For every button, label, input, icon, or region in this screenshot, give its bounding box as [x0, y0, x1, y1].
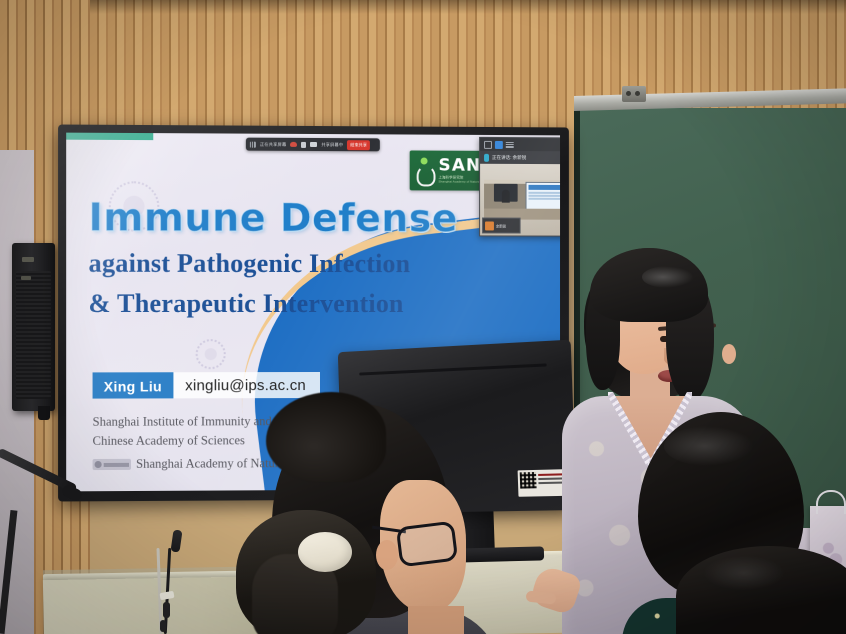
share-screen-label: 共享屏幕中	[321, 142, 343, 148]
slide-title: Immune Defense	[88, 195, 508, 240]
slide-title-block: Immune Defense against Pathogenic Infect…	[88, 195, 508, 320]
signal-icon	[250, 141, 256, 147]
remote-slide-screen	[526, 182, 560, 210]
monitor-vent	[359, 363, 546, 375]
lecture-hall-photo: SANS 上海科学研究院 Shanghai Academy of Natural…	[0, 0, 846, 634]
avatar	[485, 221, 494, 230]
share-status-label: 正在共享屏幕	[260, 141, 286, 147]
speaking-label: 正在讲话: 余新锐	[492, 154, 526, 160]
rail-bracket	[622, 86, 646, 102]
cloud-icon[interactable]	[290, 142, 297, 147]
virus-watermark-icon	[196, 339, 226, 369]
screen-accent-strip	[66, 133, 153, 141]
ceiling-shadow	[0, 0, 846, 14]
presenter-ear	[722, 344, 736, 364]
author-name: Xing Liu	[93, 372, 173, 398]
audience-member-braid	[236, 500, 386, 634]
sans-figure-icon	[415, 157, 434, 183]
presenter-hair-front	[590, 248, 708, 322]
speaker-grille	[16, 271, 51, 399]
eyeglasses-icon	[396, 521, 458, 568]
screen-share-toolbar[interactable]: 正在共享屏幕 共享屏幕中 结束共享	[246, 138, 380, 152]
qr-code-icon	[520, 472, 537, 489]
speaker-badge	[22, 257, 34, 262]
audience-neck	[408, 606, 464, 634]
participant-name: 余新锐	[496, 223, 506, 228]
end-share-button[interactable]: 结束共享	[347, 140, 370, 150]
hair-scrunchie	[298, 532, 352, 572]
slide-subtitle-line-2: & Therapeutic Intervention	[88, 288, 508, 320]
sans-mini-logo-icon	[93, 459, 131, 470]
microphone-icon	[484, 153, 489, 161]
document-icon[interactable]	[301, 141, 306, 147]
remote-classroom-view	[484, 180, 560, 220]
video-call-toolbar[interactable]	[480, 138, 560, 151]
remote-person	[502, 190, 510, 203]
gallery-view-icon[interactable]	[484, 140, 492, 148]
video-call-window[interactable]: 正在讲话: 余新锐 ▲ 余新锐	[479, 137, 560, 237]
audience-hair	[266, 392, 386, 482]
speaker-mount	[38, 406, 50, 420]
gooseneck-microphone	[171, 529, 183, 552]
wall-speaker	[12, 243, 55, 411]
cable-connector	[160, 620, 166, 632]
speaking-indicator-bar: 正在讲话: 余新锐 ▲	[480, 151, 560, 164]
camera-icon[interactable]	[310, 142, 317, 147]
list-view-icon[interactable]	[506, 142, 514, 148]
participant-thumbnail[interactable]: 余新锐	[482, 217, 521, 233]
cable-connector	[163, 602, 170, 618]
slide-subtitle-line-1: against Pathogenic Infection	[88, 248, 508, 281]
video-feed: 余新锐	[480, 164, 560, 236]
speaker-view-icon[interactable]	[495, 140, 503, 148]
speaker-label	[21, 276, 31, 280]
